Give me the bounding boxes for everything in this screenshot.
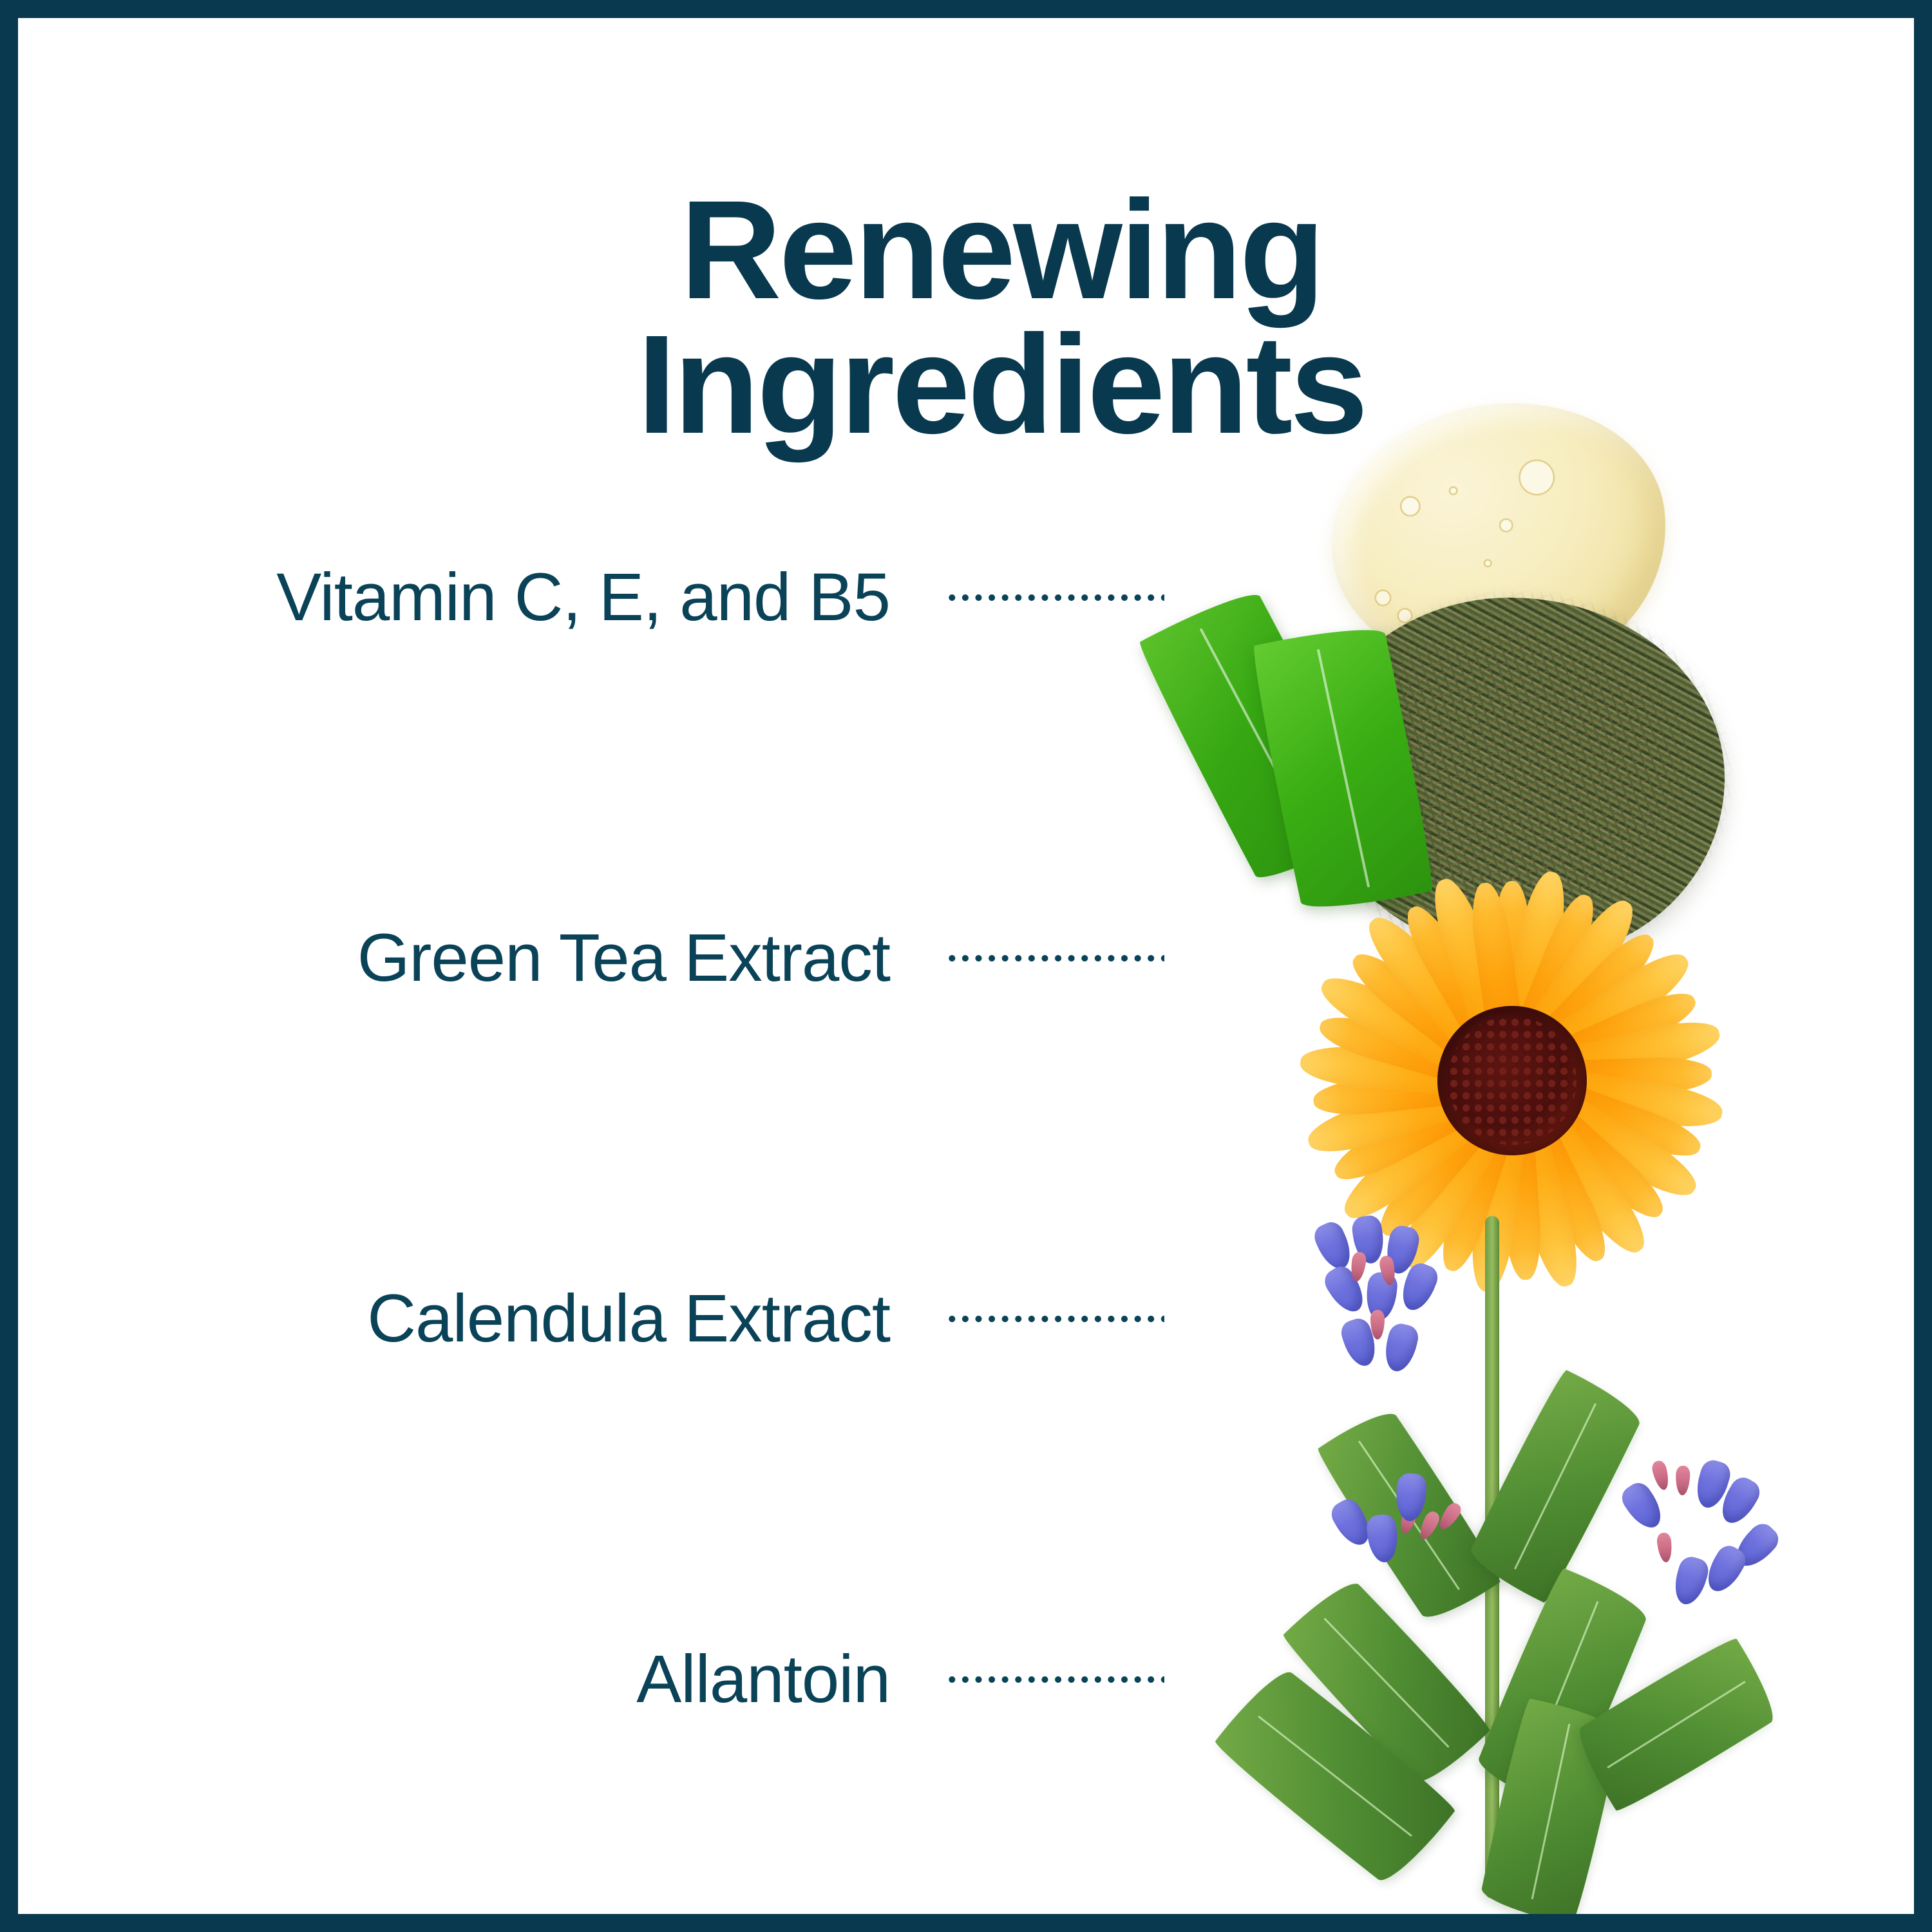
dotted-leader-icon	[945, 593, 1164, 602]
ingredient-imagery-column	[1216, 404, 1911, 1914]
ingredient-row: Green Tea Extract	[18, 920, 1164, 1280]
comfrey-plant-image	[1242, 1216, 1886, 1914]
bubble-icon	[1374, 589, 1392, 607]
ingredient-label-green-tea: Green Tea Extract	[357, 920, 890, 997]
teal-border-frame: Renewing Ingredients Vitamin C, E, and B…	[0, 0, 1932, 1932]
ingredient-row: Calendula Extract	[18, 1280, 1164, 1641]
ingredient-label-vitamins: Vitamin C, E, and B5	[276, 559, 890, 636]
title-line-1: Renewing	[680, 172, 1323, 328]
ingredient-label-calendula: Calendula Extract	[367, 1280, 890, 1358]
ingredient-label-allantoin: Allantoin	[636, 1641, 890, 1718]
ingredient-list: Vitamin C, E, and B5 Green Tea Extract C…	[18, 559, 1164, 1914]
ingredient-row: Vitamin C, E, and B5	[18, 559, 1164, 920]
poster-canvas: Renewing Ingredients Vitamin C, E, and B…	[18, 18, 1914, 1914]
bubble-icon	[1517, 458, 1557, 498]
dotted-leader-icon	[945, 1675, 1164, 1684]
bubble-icon	[1499, 518, 1514, 533]
bubble-icon	[1483, 558, 1492, 567]
bubble-icon	[1448, 486, 1458, 495]
ingredient-row: Allantoin	[18, 1641, 1164, 1914]
dotted-leader-icon	[945, 1314, 1164, 1323]
bubble-icon	[1399, 495, 1421, 518]
dotted-leader-icon	[945, 954, 1164, 963]
flower-center-disc	[1437, 1006, 1587, 1155]
